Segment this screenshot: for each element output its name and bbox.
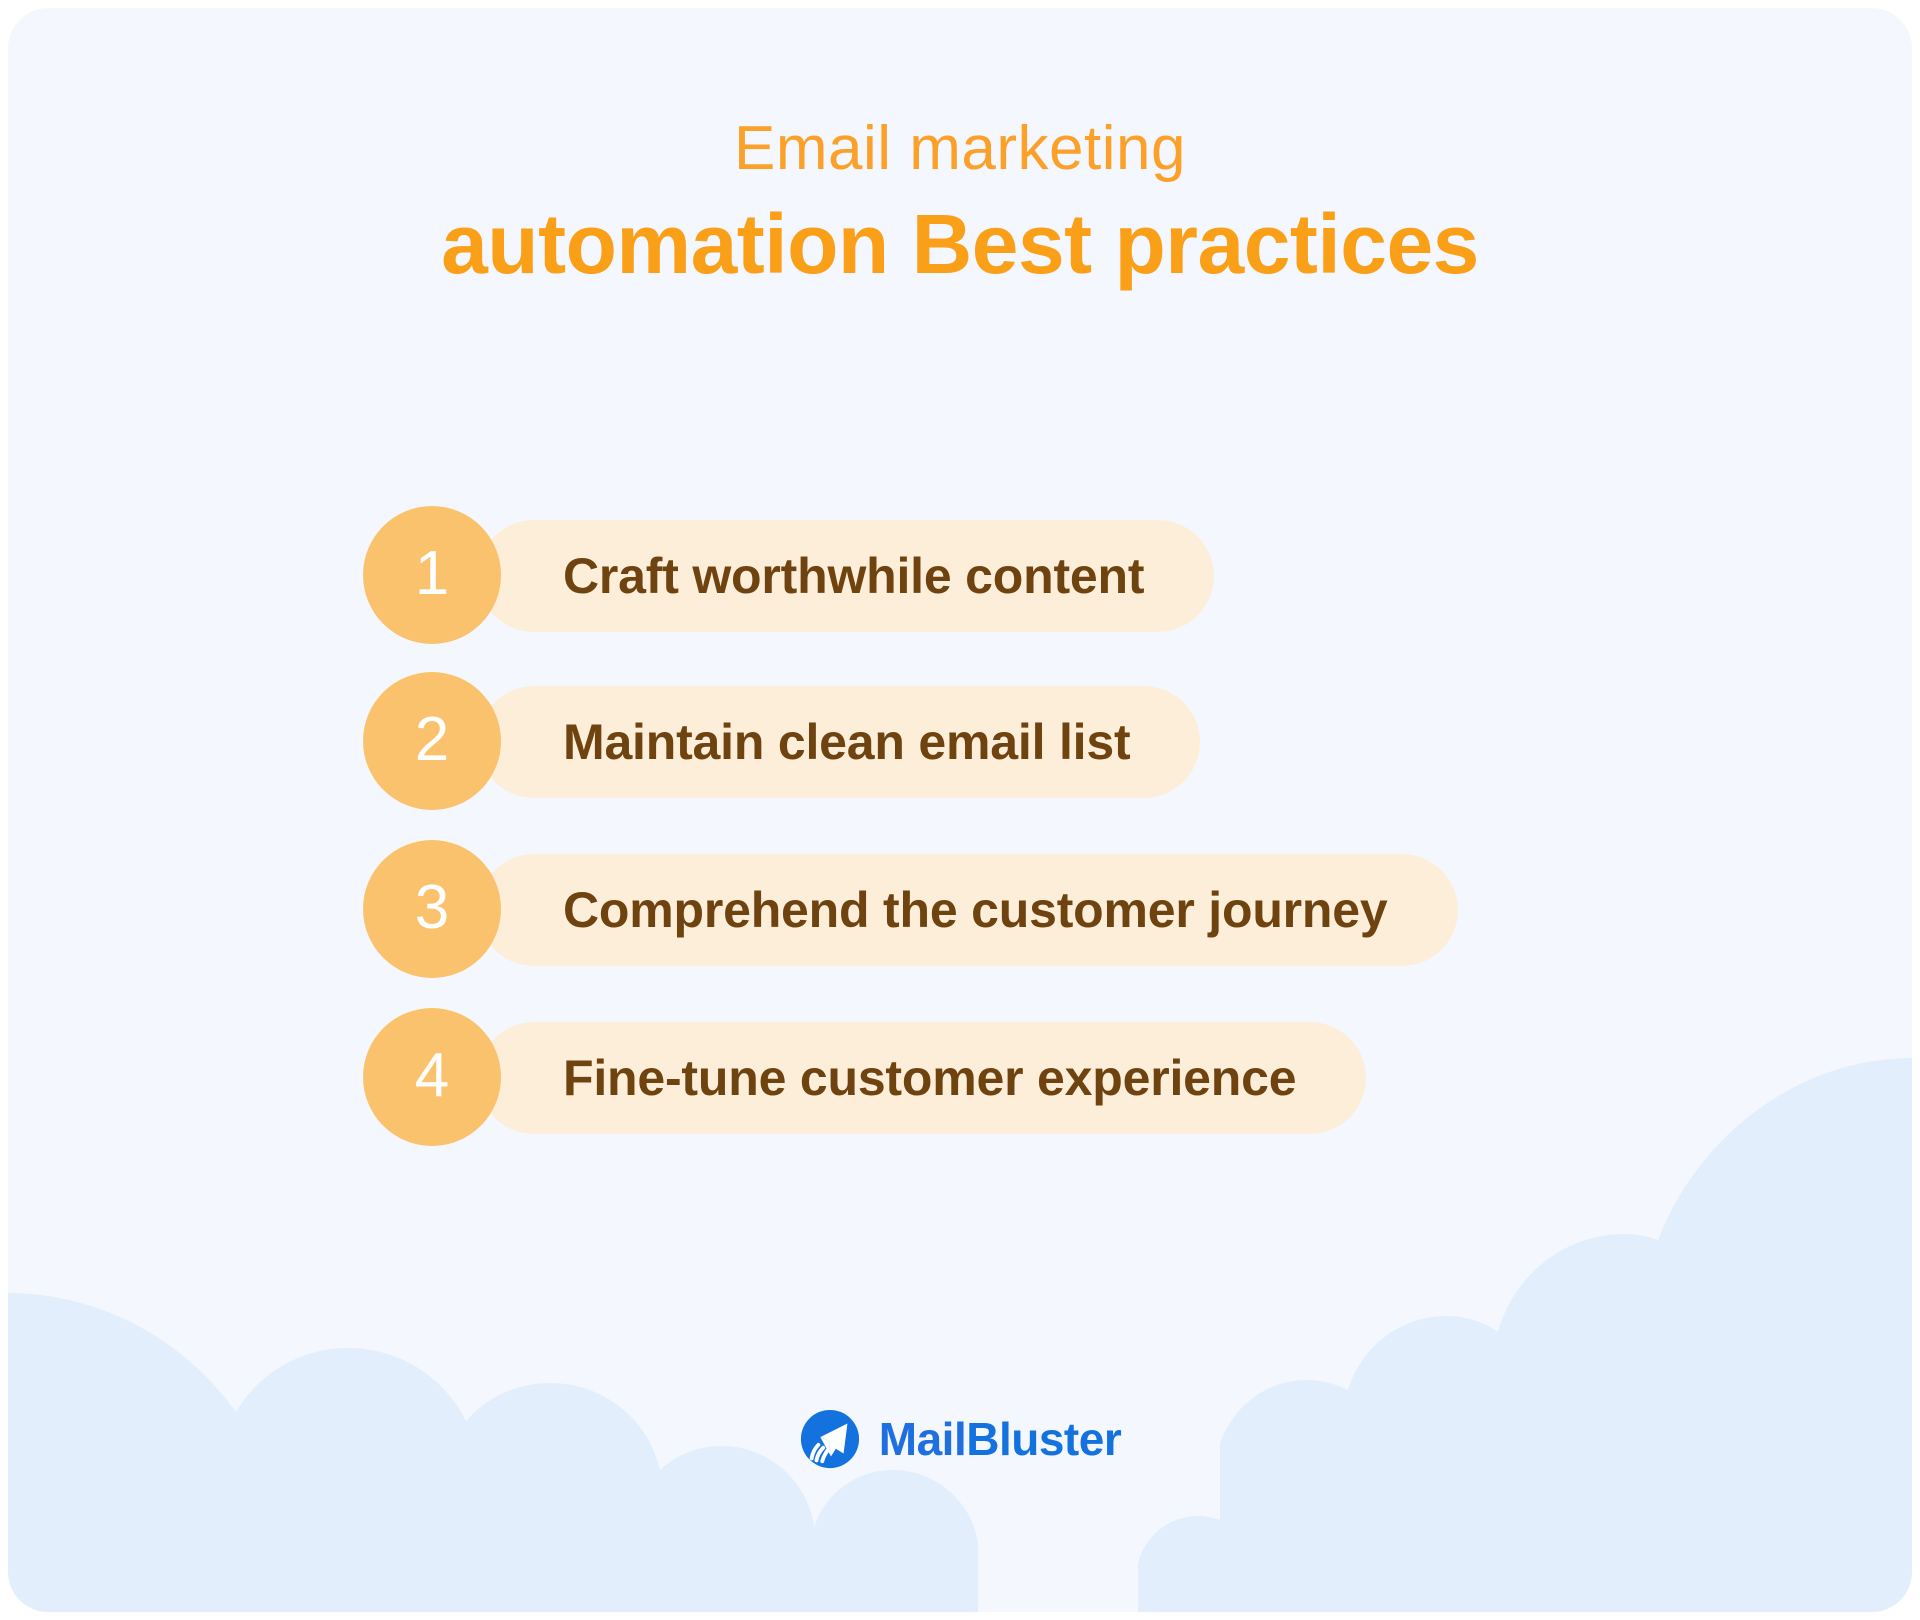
infographic-card: Email marketing automation Best practice… xyxy=(8,8,1912,1612)
list-item-label: Fine-tune customer experience xyxy=(478,1049,1366,1107)
list-item[interactable]: 3 Comprehend the customer journey xyxy=(8,842,1912,970)
kicker-text: Email marketing xyxy=(8,118,1912,180)
list-item-number-badge: 3 xyxy=(363,840,501,978)
list-item-label: Comprehend the customer journey xyxy=(478,881,1458,939)
page-title: automation Best practices xyxy=(8,202,1912,286)
paper-plane-icon xyxy=(799,1408,861,1470)
list-item-pill: Comprehend the customer journey xyxy=(478,854,1458,966)
list-item-number-badge: 2 xyxy=(363,672,501,810)
list-item-label: Maintain clean email list xyxy=(478,713,1200,771)
list-item-number-badge: 1 xyxy=(363,506,501,644)
brand-wordmark: MailBluster xyxy=(879,1416,1121,1462)
list-item-pill: Craft worthwhile content xyxy=(478,520,1214,632)
brand-name-part-one: Mail xyxy=(879,1413,966,1465)
list-item[interactable]: 2 Maintain clean email list xyxy=(8,674,1912,802)
list-item-pill: Maintain clean email list xyxy=(478,686,1200,798)
cloud-right-small-icon xyxy=(1138,1516,1257,1612)
list-item[interactable]: 1 Craft worthwhile content xyxy=(8,506,1912,634)
list-item-pill: Fine-tune customer experience xyxy=(478,1022,1366,1134)
header: Email marketing automation Best practice… xyxy=(8,118,1912,286)
brand-name-part-two: Bluster xyxy=(966,1413,1121,1465)
best-practices-list: 1 Craft worthwhile content 2 Maintain cl… xyxy=(8,506,1912,1178)
cloud-center-icon xyxy=(814,1470,978,1612)
infographic-canvas: Email marketing automation Best practice… xyxy=(0,0,1920,1620)
list-item-number-badge: 4 xyxy=(363,1008,501,1146)
brand-footer[interactable]: MailBluster xyxy=(8,1408,1912,1470)
list-item[interactable]: 4 Fine-tune customer experience xyxy=(8,1010,1912,1138)
list-item-label: Craft worthwhile content xyxy=(478,547,1214,605)
